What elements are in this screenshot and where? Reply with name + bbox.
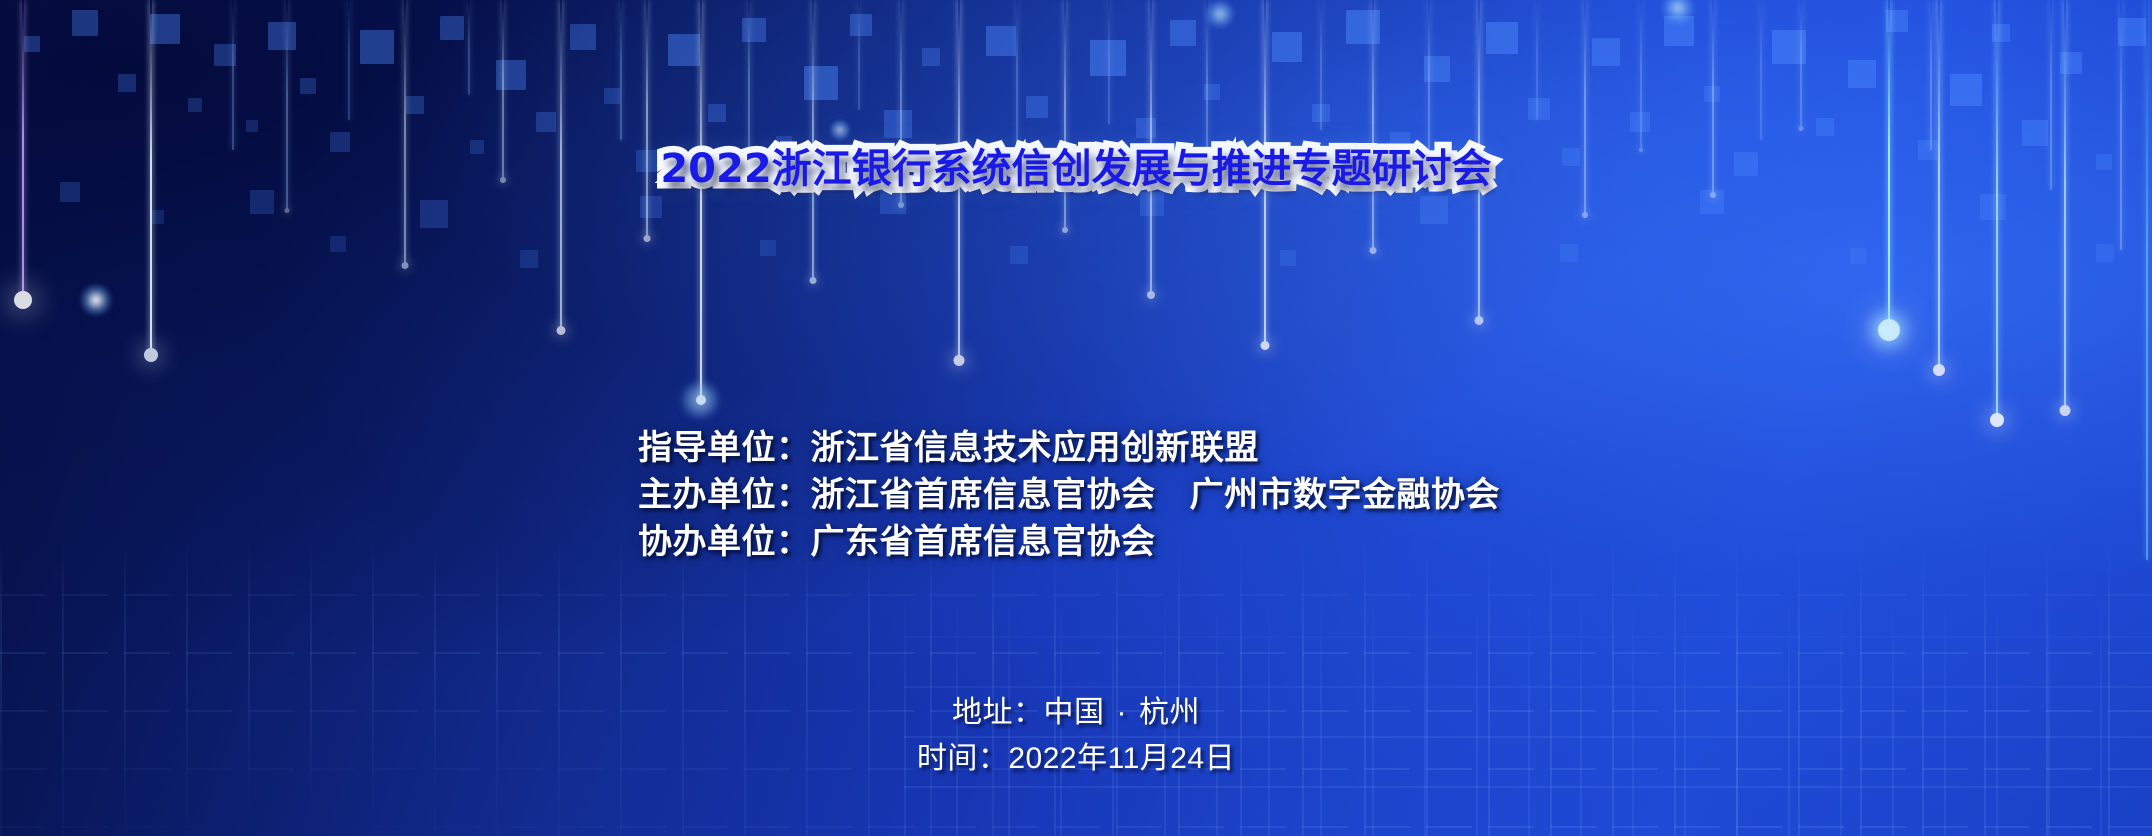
pixel-square [246, 120, 258, 132]
pixel-square [72, 10, 98, 36]
beam-tip-dot [1370, 247, 1377, 254]
pixel-square [1630, 112, 1650, 132]
light-beam [1640, 0, 1642, 150]
pixel-square [1560, 244, 1578, 262]
light-beam [1372, 0, 1374, 250]
beam-tip-dot [644, 235, 651, 242]
pixel-square [1424, 56, 1450, 82]
pixel-square [214, 44, 236, 66]
beam-tip-dot [2060, 405, 2071, 416]
light-beam [468, 0, 470, 95]
pixel-square [360, 30, 394, 64]
beam-tip-dot [1475, 316, 1484, 325]
glow-point [680, 380, 720, 420]
light-beam [2064, 0, 2066, 410]
pixel-square [708, 104, 726, 122]
beam-tip-dot [1147, 291, 1155, 299]
beam-tip-dot [285, 208, 290, 213]
pixel-square [268, 22, 296, 50]
pixel-square [496, 60, 526, 90]
pixel-square [1026, 96, 1048, 118]
light-beam [748, 0, 750, 170]
pixel-square [804, 66, 838, 100]
light-beam [232, 0, 234, 150]
pixel-square [250, 190, 274, 214]
time-value: 2022年11月24日 [1008, 742, 1235, 775]
pixel-square [570, 24, 596, 50]
pixel-square [440, 16, 464, 40]
beam-tip-dot [696, 395, 706, 405]
pixel-square [1204, 84, 1220, 100]
event-meta: 地址：中国·杭州 时间：2022年11月24日 [0, 690, 2152, 782]
pixel-square [884, 110, 912, 138]
organizer-label: 指导单位： [638, 429, 811, 467]
light-beam [348, 0, 350, 120]
light-beam [646, 0, 648, 238]
pixel-square [1992, 24, 2010, 42]
beam-tip-dot [1062, 227, 1068, 233]
beam-tip-dot [898, 202, 904, 208]
pixel-square [604, 88, 620, 104]
pixel-square [300, 78, 316, 94]
pixel-square [1980, 194, 2006, 220]
pixel-square [2022, 120, 2048, 146]
pixel-square [1886, 10, 1908, 32]
pixel-square [668, 34, 700, 66]
pixel-square [922, 48, 940, 66]
organizer-line-guidance: 指导单位：浙江省信息技术应用创新联盟 [638, 425, 1500, 472]
light-beam [1760, 0, 1762, 140]
pixel-square [1528, 98, 1550, 120]
beam-tip-dot [954, 355, 965, 366]
organizer-value: 浙江省信息技术应用创新联盟 [811, 429, 1260, 467]
light-beam [1536, 0, 1538, 120]
pixel-square [1704, 86, 1720, 102]
conference-poster: 2022浙江银行系统信创发展与推进专题研讨会 指导单位：浙江省信息技术应用创新联… [0, 0, 2152, 836]
light-beam [812, 0, 814, 280]
glow-point [829, 119, 851, 141]
pixel-square [150, 14, 180, 44]
address-country: 中国 [1044, 696, 1105, 729]
organizer-value: 广东省首席信息官协会 [811, 523, 1156, 561]
pixel-square [1772, 30, 1806, 64]
pixel-square [1010, 246, 1028, 264]
pixel-square [420, 200, 448, 228]
light-beam [1064, 0, 1066, 230]
beam-tip-dot [557, 326, 566, 335]
separator-dot: · [1105, 690, 1140, 736]
pixel-square [1592, 38, 1620, 66]
glow-point [1862, 304, 1914, 356]
light-beam [700, 0, 702, 400]
pixel-square [1816, 118, 1834, 136]
glow-point [79, 283, 113, 317]
pixel-square [406, 96, 424, 114]
beam-tip-dot [402, 262, 409, 269]
light-beam [1930, 0, 1932, 150]
organizer-line-coorganizer: 协办单位：广东省首席信息官协会 [638, 519, 1500, 566]
event-time: 时间：2022年11月24日 [0, 736, 2152, 782]
pixel-square [1272, 32, 1302, 62]
light-beam [1428, 0, 1430, 165]
light-beam [620, 0, 622, 140]
beam-tip-dot [810, 277, 817, 284]
pixel-square [760, 240, 776, 256]
pixel-square [1420, 196, 1448, 224]
page-title: 2022浙江银行系统信创发展与推进专题研讨会 [0, 148, 2152, 190]
pixel-square [1950, 74, 1982, 106]
organizer-value-secondary: 广州市数字金融协会 [1190, 476, 1501, 514]
pixel-square [1090, 40, 1126, 76]
pixel-square [986, 26, 1016, 56]
pixel-square [520, 250, 538, 268]
beam-tip-dot [1878, 319, 1900, 341]
light-beam [1996, 0, 1998, 420]
pixel-square [1664, 16, 1694, 46]
pixel-square [1700, 190, 1724, 214]
pixel-square [1170, 20, 1196, 46]
glow-point [1205, 0, 1235, 29]
light-beam [858, 0, 860, 110]
pixel-square [1312, 104, 1330, 122]
light-beam [1800, 0, 1802, 128]
pixel-square [2096, 244, 2114, 262]
pixel-square [1848, 60, 1876, 88]
pixel-square [536, 112, 556, 132]
organizer-label: 协办单位： [638, 523, 811, 561]
light-beam [1016, 0, 1018, 150]
beam-tip-dot [1710, 192, 1716, 198]
beam-tip-dot [1990, 413, 2004, 427]
pixel-square [742, 18, 766, 42]
light-beam [1108, 0, 1110, 125]
light-beam [1320, 0, 1322, 130]
organizer-line-host: 主办单位：浙江省首席信息官协会广州市数字金融协会 [638, 472, 1500, 519]
pixel-square [1136, 118, 1156, 138]
beam-tip-dot [144, 348, 158, 362]
beam-tip-dot [14, 291, 32, 309]
pixel-square [1346, 10, 1380, 44]
beam-tip-dot [1582, 212, 1588, 218]
pixel-square [188, 98, 202, 112]
pixel-square [1486, 22, 1518, 54]
organizer-value: 浙江省首席信息官协会 [811, 476, 1156, 514]
pixel-square [150, 210, 164, 224]
pixel-square [24, 36, 40, 52]
pixel-square [640, 196, 662, 218]
time-label: 时间： [917, 742, 1009, 775]
pixel-square [850, 14, 872, 36]
organizer-label: 主办单位： [638, 476, 811, 514]
pixel-square [1280, 250, 1296, 266]
organizer-list: 指导单位：浙江省信息技术应用创新联盟 主办单位：浙江省首席信息官协会广州市数字金… [638, 425, 1500, 566]
address-city: 杭州 [1139, 696, 1200, 729]
light-beam [2120, 0, 2122, 250]
pixel-square [2060, 52, 2082, 74]
beam-tip-dot [1933, 364, 1945, 376]
pixel-square [1850, 248, 1866, 264]
pixel-square [330, 236, 346, 252]
pixel-square [2118, 18, 2146, 46]
pixel-square [118, 74, 136, 92]
address-label: 地址： [952, 696, 1044, 729]
light-beam [2146, 0, 2148, 560]
pixel-square [1140, 192, 1164, 216]
light-beam [404, 0, 406, 265]
event-address: 地址：中国·杭州 [0, 690, 2152, 736]
glow-point [1661, 0, 1695, 25]
beam-tip-dot [1799, 126, 1804, 131]
beam-tip-dot [1261, 341, 1270, 350]
